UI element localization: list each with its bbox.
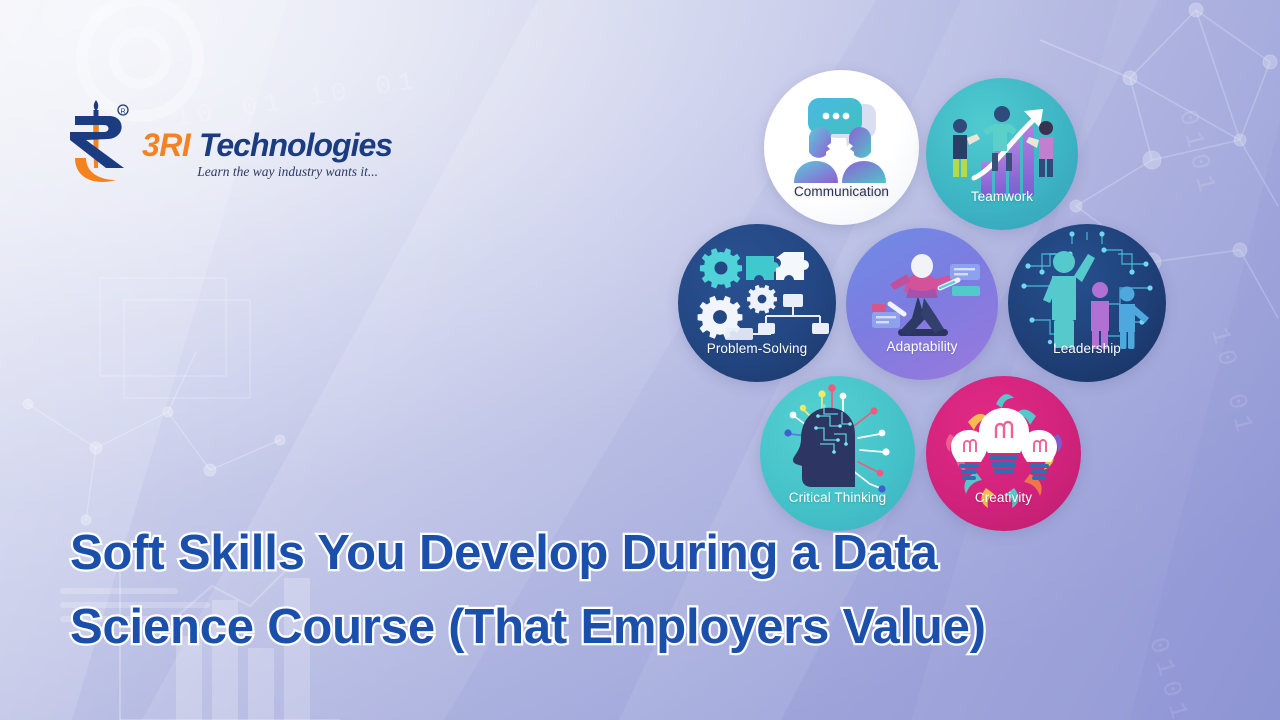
head [911,254,933,278]
skills-cluster: Communication [660,58,1185,533]
gear-teal [700,248,742,288]
skill-label: Communication [794,184,889,225]
registered-trademark-icon: R [118,105,128,116]
gear-white-small [747,285,777,314]
skill-circle-creativity[interactable]: Creativity [926,376,1081,531]
skill-label: Critical Thinking [789,490,887,531]
skill-circle-problem-solving[interactable]: Problem-Solving [678,224,836,382]
logo-word-primary: 3RI [142,127,192,163]
head-profile [793,404,855,487]
skill-label: Leadership [1053,341,1121,382]
follower-blue [1119,287,1149,350]
title-line-2: Science Course (That Employers Value) [70,590,1150,664]
svg-text:0101: 0101 [1142,634,1196,720]
logo-mark-icon [70,100,124,182]
skill-circle-communication[interactable]: Communication [764,70,919,225]
page-title: Soft Skills You Develop During a Data Sc… [70,516,1150,664]
brand-logo[interactable]: R 3RI Technologies Learn the way industr… [62,92,392,192]
svg-text:R: R [120,109,125,116]
skill-circle-adaptability[interactable]: Adaptability [846,228,998,380]
logo-word-secondary: Technologies [199,127,392,163]
svg-text:10 01: 10 01 [1204,325,1260,442]
lightbulb-center [979,408,1029,474]
lightbulb-right [1021,430,1057,480]
person-left [953,119,980,177]
skill-circle-critical-thinking[interactable]: Critical Thinking [760,376,915,531]
puzzle-piece-white [776,252,809,280]
follower-purple [1091,282,1109,349]
network-node-graph-left [23,352,285,525]
puzzle-piece-teal [746,256,779,280]
skill-label: Problem-Solving [707,341,808,382]
skill-label: Creativity [975,490,1032,531]
skill-circle-leadership[interactable]: Leadership [1008,224,1166,382]
logo-artwork: R 3RI Technologies Learn the way industr… [62,92,392,192]
lightbulb-left [951,430,987,480]
skill-label: Adaptability [887,339,958,380]
logo-tagline: Learn the way industry wants it... [196,164,378,179]
banner-canvas: 10 01 10 01 0101 10 01 0101 [0,0,1280,720]
skill-label: Teamwork [971,189,1033,230]
skill-circle-teamwork[interactable]: Teamwork [926,78,1078,230]
